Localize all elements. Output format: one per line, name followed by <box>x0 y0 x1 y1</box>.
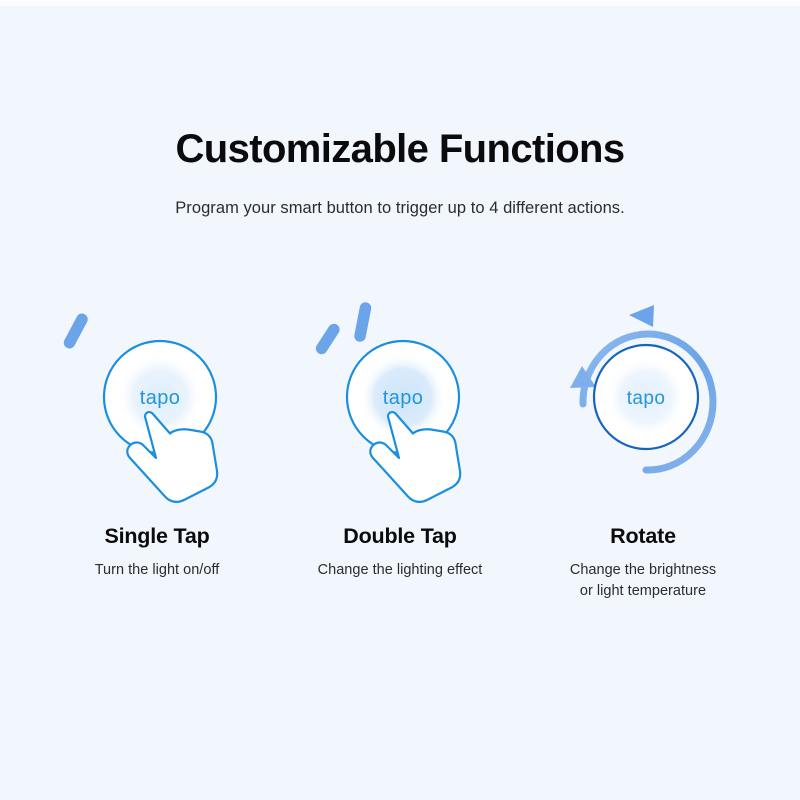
single-tap-illustration: tapo <box>57 292 257 507</box>
promo-page: Customizable Functions Program your smar… <box>0 0 800 800</box>
feature-description-line1: Change the lighting effect <box>318 562 483 578</box>
svg-text:tapo: tapo <box>140 387 181 409</box>
top-highlight-strip <box>0 0 800 6</box>
feature-card-rotate: tapo Rotate Change the brightness or lig… <box>522 292 765 602</box>
tapo-logo: tapo <box>383 387 424 409</box>
tap-mark-icon <box>62 312 90 351</box>
feature-cards: tapo Single Tap Turn the light on/off <box>0 292 800 602</box>
tapo-logo: tapo <box>140 387 181 409</box>
feature-label: Double Tap <box>343 523 456 549</box>
page-title: Customizable Functions <box>0 124 800 174</box>
header: Customizable Functions Program your smar… <box>0 124 800 220</box>
feature-description-line2: or light temperature <box>570 581 716 602</box>
svg-text:tapo: tapo <box>627 388 666 409</box>
tapo-logo: tapo <box>627 388 666 409</box>
feature-description-line1: Turn the light on/off <box>95 562 220 578</box>
feature-card-single-tap: tapo Single Tap Turn the light on/off <box>36 292 279 581</box>
tap-mark-icon <box>353 301 372 342</box>
feature-description: Change the lighting effect <box>318 560 483 581</box>
feature-card-double-tap: tapo Double Tap Change the lighting effe… <box>279 292 522 581</box>
page-subtitle: Program your smart button to trigger up … <box>0 174 800 220</box>
feature-label: Rotate <box>610 523 676 549</box>
feature-label: Single Tap <box>104 523 209 549</box>
feature-description: Turn the light on/off <box>95 560 220 581</box>
feature-description: Change the brightness or light temperatu… <box>570 560 716 602</box>
rotate-illustration: tapo <box>543 292 743 507</box>
tap-mark-icon <box>314 322 342 357</box>
double-tap-illustration: tapo <box>300 292 500 507</box>
feature-description-line1: Change the brightness <box>570 562 716 578</box>
svg-text:tapo: tapo <box>383 387 424 409</box>
